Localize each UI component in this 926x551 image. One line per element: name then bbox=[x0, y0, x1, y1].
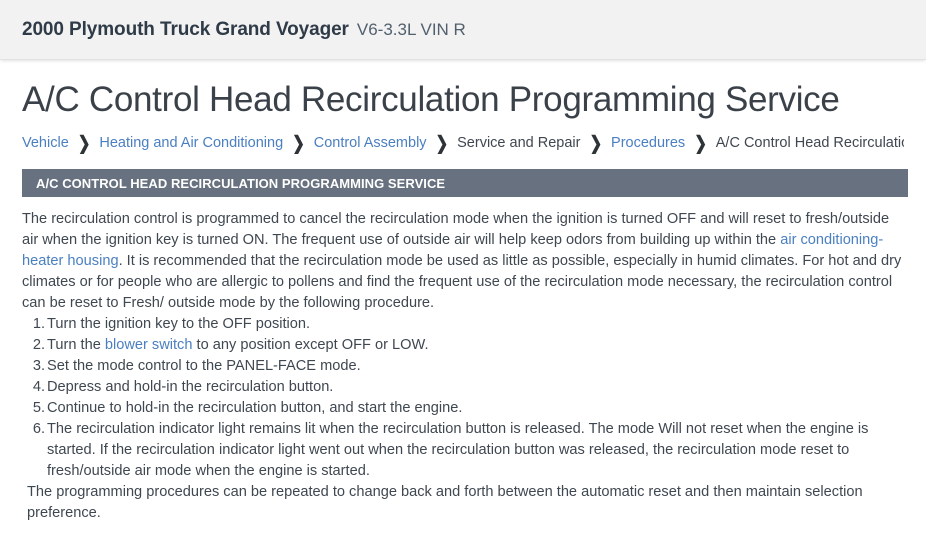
closing-paragraph: The programming procedures can be repeat… bbox=[22, 482, 904, 524]
breadcrumb-item-a-c-control-head-recirculation-pro: A/C Control Head Recirculation Pro bbox=[716, 135, 904, 151]
breadcrumb: Vehicle❯Heating and Air Conditioning❯Con… bbox=[22, 132, 904, 154]
breadcrumb-separator-icon: ❯ bbox=[589, 132, 602, 154]
procedure-step: 6.The recirculation indicator light rema… bbox=[22, 419, 904, 482]
vehicle-header: 2000 Plymouth Truck Grand Voyager V6-3.3… bbox=[0, 0, 926, 60]
breadcrumb-separator-icon: ❯ bbox=[78, 132, 91, 154]
intro-text-before: The recirculation control is programmed … bbox=[22, 211, 889, 248]
breadcrumb-item-control-assembly[interactable]: Control Assembly bbox=[314, 135, 427, 151]
step-text: The recirculation indicator light remain… bbox=[47, 421, 868, 479]
section-banner: A/C CONTROL HEAD RECIRCULATION PROGRAMMI… bbox=[22, 169, 908, 197]
procedure-step: 3.Set the mode control to the PANEL-FACE… bbox=[22, 356, 904, 377]
step-text-after: to any position except OFF or LOW. bbox=[192, 337, 428, 353]
breadcrumb-item-procedures[interactable]: Procedures bbox=[611, 135, 685, 151]
step-number: 3. bbox=[27, 356, 45, 377]
procedure-steps: 1.Turn the ignition key to the OFF posit… bbox=[22, 314, 904, 482]
step-number: 1. bbox=[27, 314, 45, 335]
breadcrumb-item-heating-and-air-conditioning[interactable]: Heating and Air Conditioning bbox=[99, 135, 283, 151]
section-banner-label: A/C CONTROL HEAD RECIRCULATION PROGRAMMI… bbox=[36, 176, 445, 191]
breadcrumb-item-vehicle[interactable]: Vehicle bbox=[22, 135, 69, 151]
step-number: 5. bbox=[27, 398, 45, 419]
intro-text-after: . It is recommended that the recirculati… bbox=[22, 253, 901, 311]
step-number: 4. bbox=[27, 377, 45, 398]
page-title: A/C Control Head Recirculation Programmi… bbox=[22, 79, 904, 120]
step-text: Set the mode control to the PANEL-FACE m… bbox=[47, 358, 361, 374]
blower-switch-link[interactable]: blower switch bbox=[105, 337, 193, 353]
procedure-step: 1.Turn the ignition key to the OFF posit… bbox=[22, 314, 904, 335]
vehicle-engine-label: V6-3.3L VIN R bbox=[357, 20, 466, 40]
procedure-step: 5.Continue to hold-in the recirculation … bbox=[22, 398, 904, 419]
step-number: 6. bbox=[27, 419, 45, 440]
breadcrumb-separator-icon: ❯ bbox=[292, 132, 305, 154]
step-text: Turn the ignition key to the OFF positio… bbox=[47, 316, 310, 332]
step-text: Continue to hold-in the recirculation bu… bbox=[47, 400, 462, 416]
procedure-step: 4.Depress and hold-in the recirculation … bbox=[22, 377, 904, 398]
breadcrumb-separator-icon: ❯ bbox=[694, 132, 707, 154]
step-text: Turn the bbox=[47, 337, 105, 353]
page-body: A/C Control Head Recirculation Programmi… bbox=[0, 79, 926, 524]
breadcrumb-item-service-and-repair: Service and Repair bbox=[457, 135, 580, 151]
step-text: Depress and hold-in the recirculation bu… bbox=[47, 379, 333, 395]
vehicle-title: 2000 Plymouth Truck Grand Voyager bbox=[22, 19, 349, 41]
intro-paragraph: The recirculation control is programmed … bbox=[22, 209, 904, 314]
procedure-step: 2.Turn the blower switch to any position… bbox=[22, 335, 904, 356]
step-number: 2. bbox=[27, 335, 45, 356]
article-content: The recirculation control is programmed … bbox=[22, 209, 904, 524]
breadcrumb-separator-icon: ❯ bbox=[436, 132, 449, 154]
